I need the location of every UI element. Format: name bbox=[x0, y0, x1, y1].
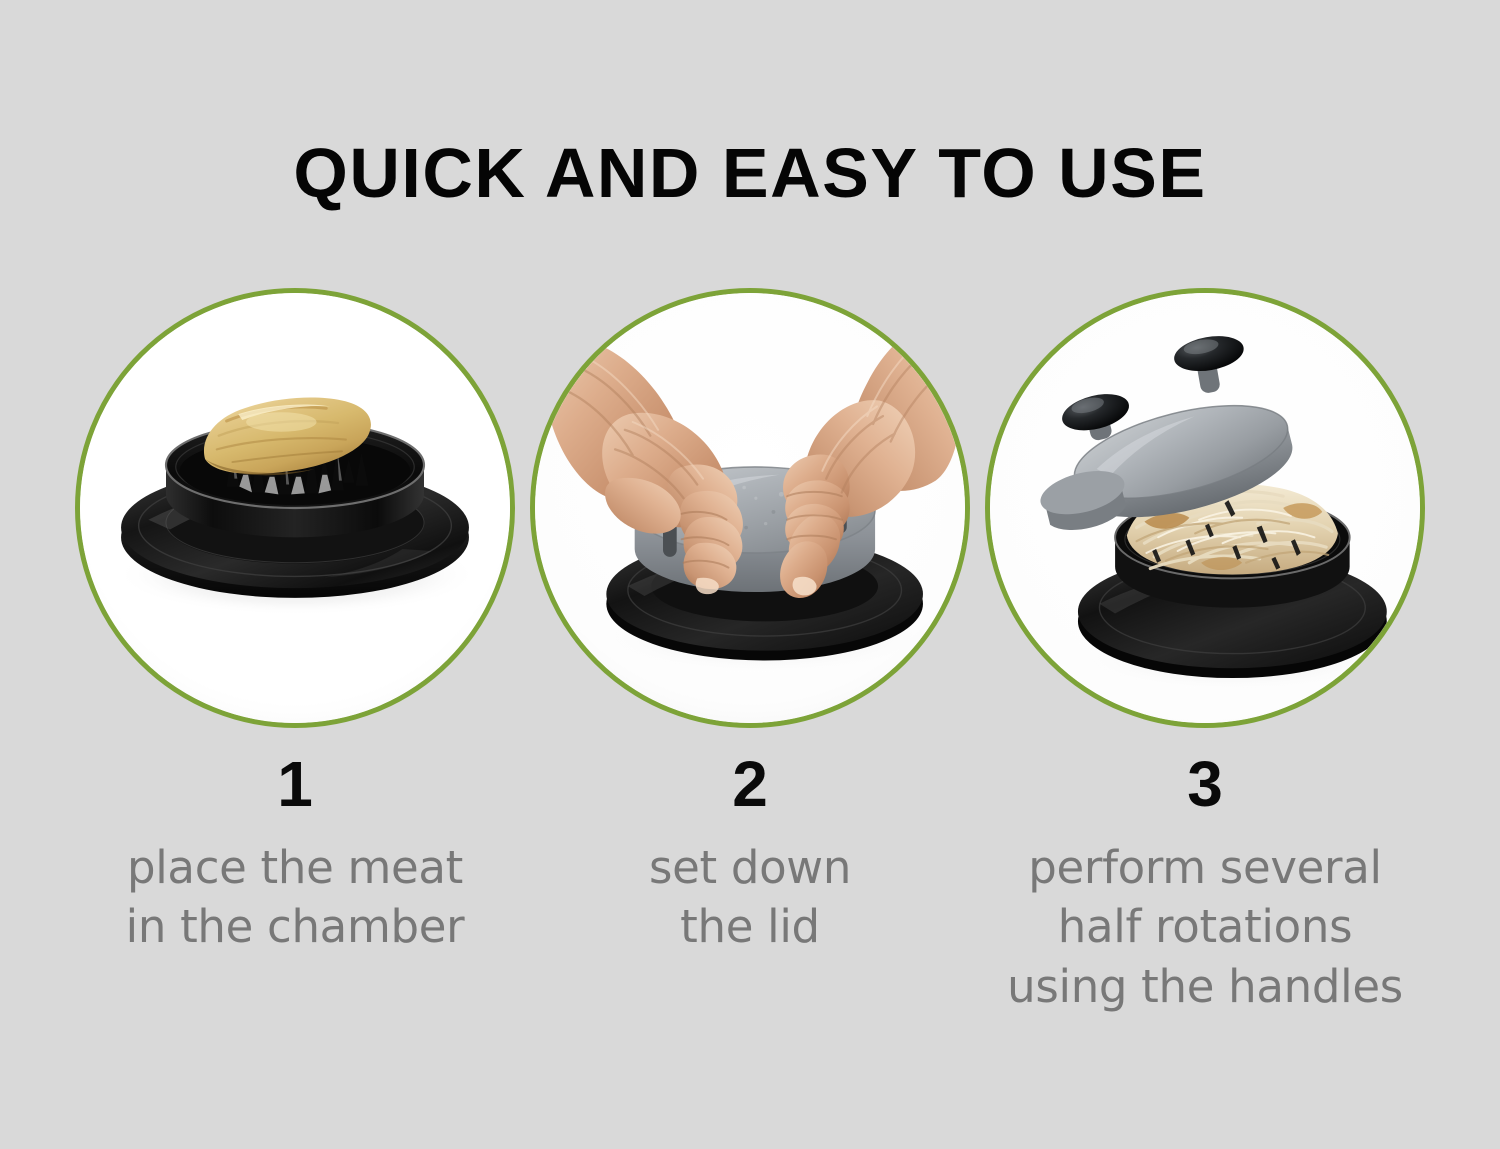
step-2: 2 set down the lid bbox=[523, 288, 978, 957]
step-1-photo-circle bbox=[75, 288, 515, 728]
shredded-result-photo bbox=[990, 293, 1420, 723]
step-1-number: 1 bbox=[277, 752, 313, 816]
meat-in-chamber-photo bbox=[80, 293, 510, 723]
step-2-photo-circle bbox=[530, 288, 970, 728]
step-3: 3 perform several half rotations using t… bbox=[978, 288, 1433, 1016]
set-down-lid-photo bbox=[535, 293, 965, 723]
step-1: 1 place the meat in the chamber bbox=[68, 288, 523, 957]
step-3-caption: perform several half rotations using the… bbox=[1007, 838, 1403, 1016]
page-title: QUICK AND EASY TO USE bbox=[0, 138, 1500, 208]
step-2-number: 2 bbox=[732, 752, 768, 816]
step-1-caption: place the meat in the chamber bbox=[126, 838, 465, 957]
steps-row: 1 place the meat in the chamber bbox=[0, 288, 1500, 1016]
step-3-photo-circle bbox=[985, 288, 1425, 728]
step-3-number: 3 bbox=[1187, 752, 1223, 816]
step-2-caption: set down the lid bbox=[649, 838, 851, 957]
